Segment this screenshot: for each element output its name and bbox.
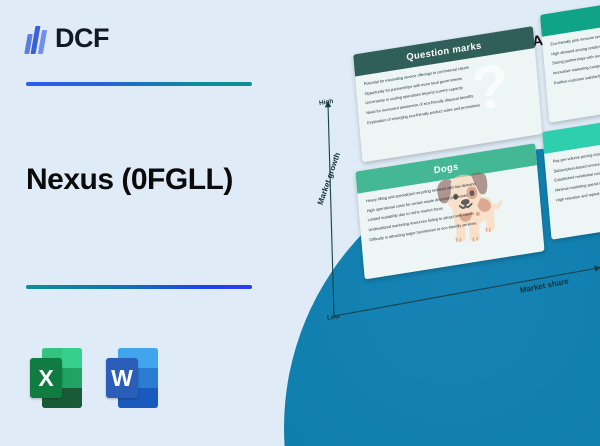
- quadrant-stars[interactable]: Stars ★ Eco-friendly junk removal servic…: [540, 0, 600, 123]
- download-icons: X W: [30, 346, 158, 410]
- divider-top: [26, 82, 252, 86]
- bar-chart-logo-icon: [26, 22, 48, 54]
- divider-bottom: [26, 285, 252, 289]
- excel-letter: X: [30, 358, 62, 398]
- slide-page: DCF Nexus (0FGLL) X W BCG MATRIX: [0, 0, 600, 446]
- brand-logo[interactable]: DCF: [26, 22, 109, 54]
- excel-file-icon[interactable]: X: [30, 346, 82, 410]
- word-file-icon[interactable]: W: [106, 346, 158, 410]
- quadrant-dogs[interactable]: Dogs 🐕 Heavy lifting and specialized rec…: [355, 143, 544, 279]
- page-title: Nexus (0FGLL): [26, 163, 288, 198]
- quadrant-question-marks[interactable]: Question marks ? Potential for expanding…: [353, 26, 542, 162]
- axis-label-high: High: [319, 98, 334, 107]
- quadrant-cash-cows[interactable]: Cash cows $ Pay-per-volume pricing model…: [542, 103, 600, 239]
- axis-label-market-growth: Market growth: [316, 151, 342, 206]
- matrix-plane: Question marks ? Potential for expanding…: [330, 0, 600, 292]
- left-panel: DCF Nexus (0FGLL) X W: [0, 0, 300, 446]
- word-letter: W: [106, 358, 138, 398]
- bcg-matrix-artwork: BCG MATRIX Question marks ? Potential fo…: [272, 0, 600, 446]
- brand-name: DCF: [55, 25, 109, 52]
